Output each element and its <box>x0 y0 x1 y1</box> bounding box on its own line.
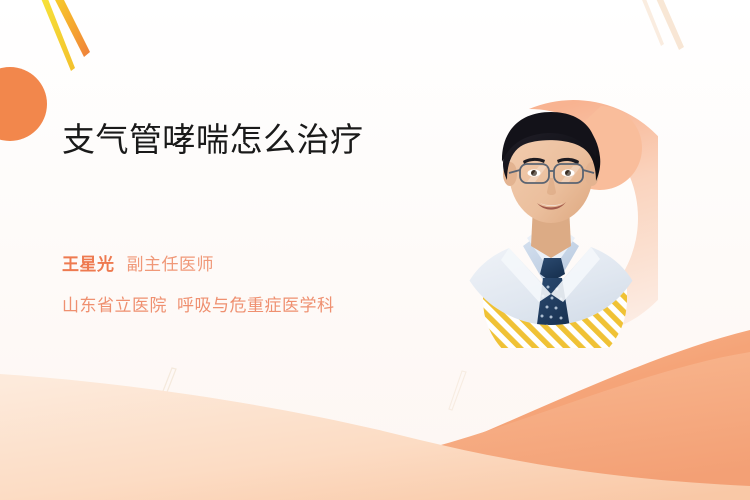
doctor-rank: 副主任医师 <box>127 255 215 274</box>
doctor-org-row: 山东省立医院呼吸与危重症医学科 <box>62 291 335 316</box>
doctor-portrait <box>443 88 658 348</box>
doctor-department: 呼吸与危重症医学科 <box>177 296 335 315</box>
portrait-area <box>443 88 658 348</box>
doctor-hospital: 山东省立医院 <box>62 296 167 315</box>
doctor-name: 王星光 <box>62 255 115 274</box>
page-title: 支气管哮喘怎么治疗 <box>62 118 422 162</box>
doctor-name-row: 王星光副主任医师 <box>62 250 214 275</box>
title-block: 支气管哮喘怎么治疗 <box>62 118 422 162</box>
video-cover-card: 支气管哮喘怎么治疗 王星光副主任医师 山东省立医院呼吸与危重症医学科 <box>0 0 750 500</box>
